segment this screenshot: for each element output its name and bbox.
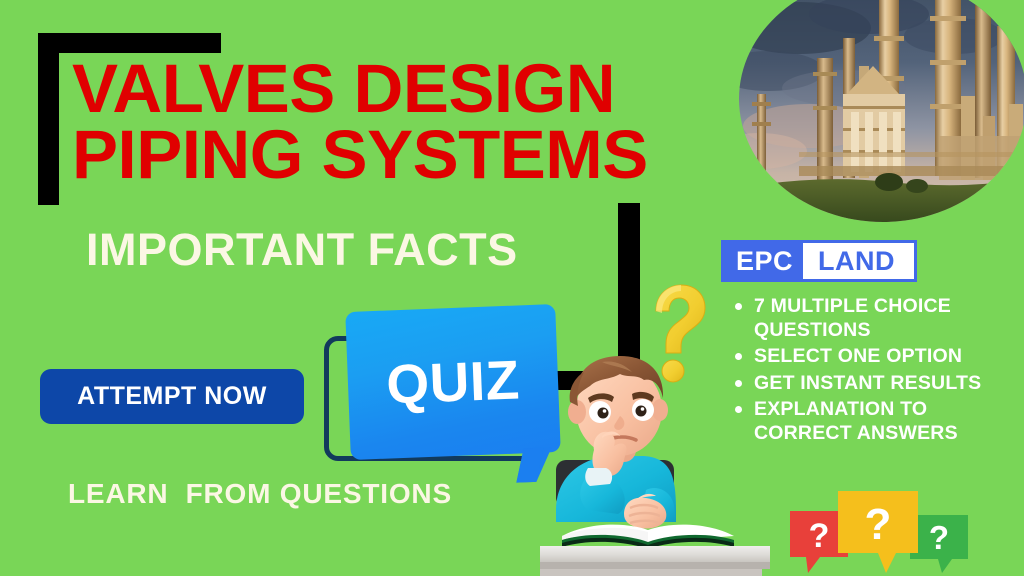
bracket-top-vertical (38, 33, 59, 205)
list-item: EXPLANATION TO CORRECT ANSWERS (729, 398, 1019, 445)
logo-land-text: LAND (803, 243, 914, 279)
svg-text:?: ? (809, 517, 830, 555)
headline-line-2: PIPING SYSTEMS (72, 122, 648, 188)
tagline-text: LEARN FROM QUESTIONS (68, 478, 452, 510)
refinery-photo (739, 0, 1024, 222)
list-item: 7 MULTIPLE CHOICE QUESTIONS (729, 295, 1019, 342)
question-bubbles-group: ? ? ? (786, 489, 972, 576)
bubble-yellow: ? (838, 491, 918, 573)
list-item: SELECT ONE OPTION (729, 345, 1019, 369)
headline-line-1: VALVES DESIGN (72, 56, 648, 122)
poster-canvas: VALVES DESIGN PIPING SYSTEMS IMPORTANT F… (0, 0, 1024, 576)
epc-land-logo: EPC LAND (721, 240, 917, 282)
svg-text:?: ? (929, 519, 949, 556)
list-item: GET INSTANT RESULTS (729, 372, 1019, 396)
thinking-boy-illustration (540, 350, 770, 576)
quiz-label: QUIZ (345, 304, 561, 460)
subheadline: IMPORTANT FACTS (86, 224, 518, 276)
bubble-green: ? (910, 515, 968, 573)
feature-list: 7 MULTIPLE CHOICE QUESTIONS SELECT ONE O… (729, 295, 1019, 448)
svg-text:?: ? (865, 500, 892, 549)
headline-block: VALVES DESIGN PIPING SYSTEMS (72, 56, 648, 188)
logo-epc-text: EPC (724, 243, 803, 279)
quiz-bubble-group[interactable]: QUIZ (322, 300, 572, 490)
attempt-now-button[interactable]: ATTEMPT NOW (40, 369, 304, 424)
